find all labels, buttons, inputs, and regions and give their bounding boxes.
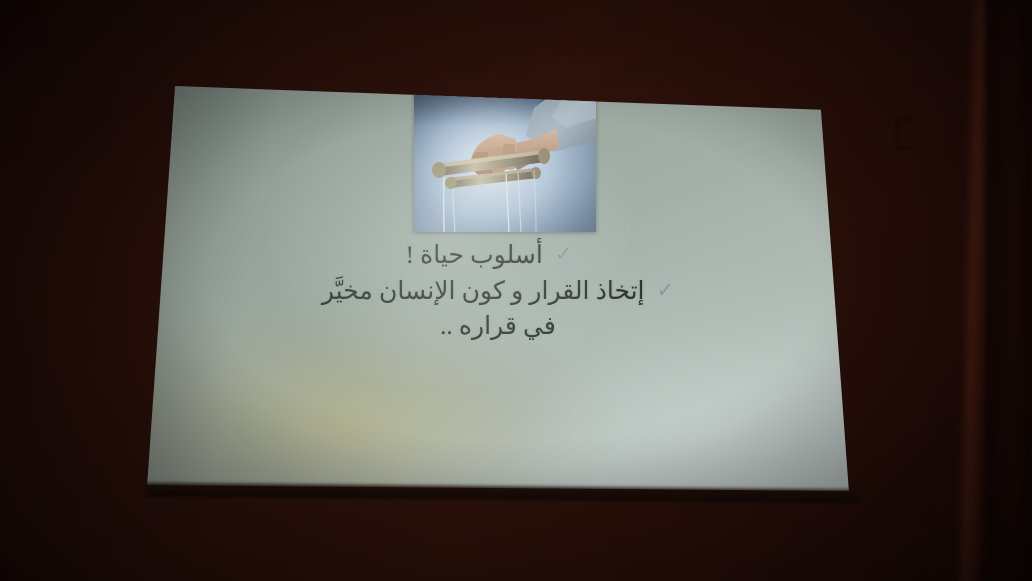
bullet-item-1-text: أسلوب حياة ! [406, 242, 543, 269]
wall-corner-shadow [986, 0, 1032, 581]
bullet-item-1: ✓أسلوب حياة ! [140, 238, 838, 274]
check-icon: ✓ [657, 276, 675, 306]
projected-slide-photo: ✓أسلوب حياة ! ✓إتخاذ القرار و كون الإنسا… [0, 0, 1032, 581]
bullet-item-2-text: إتخاذ القرار و كون الإنسان مخيَّر [322, 278, 645, 305]
presentation-slide: ✓أسلوب حياة ! ✓إتخاذ القرار و كون الإنسا… [140, 78, 856, 502]
projection-screen: ✓أسلوب حياة ! ✓إتخاذ القرار و كون الإنسا… [140, 78, 856, 502]
wall-fixture-icon [896, 118, 913, 150]
marionette-illustration [414, 78, 596, 232]
slide-bullet-list: ✓أسلوب حياة ! ✓إتخاذ القرار و كون الإنسا… [140, 238, 856, 345]
marionette-photo [414, 78, 596, 232]
bullet-item-2: ✓إتخاذ القرار و كون الإنسان مخيَّر [140, 274, 856, 310]
check-icon: ✓ [555, 240, 573, 270]
bullet-item-2-continued: في قراره .. [140, 309, 856, 345]
